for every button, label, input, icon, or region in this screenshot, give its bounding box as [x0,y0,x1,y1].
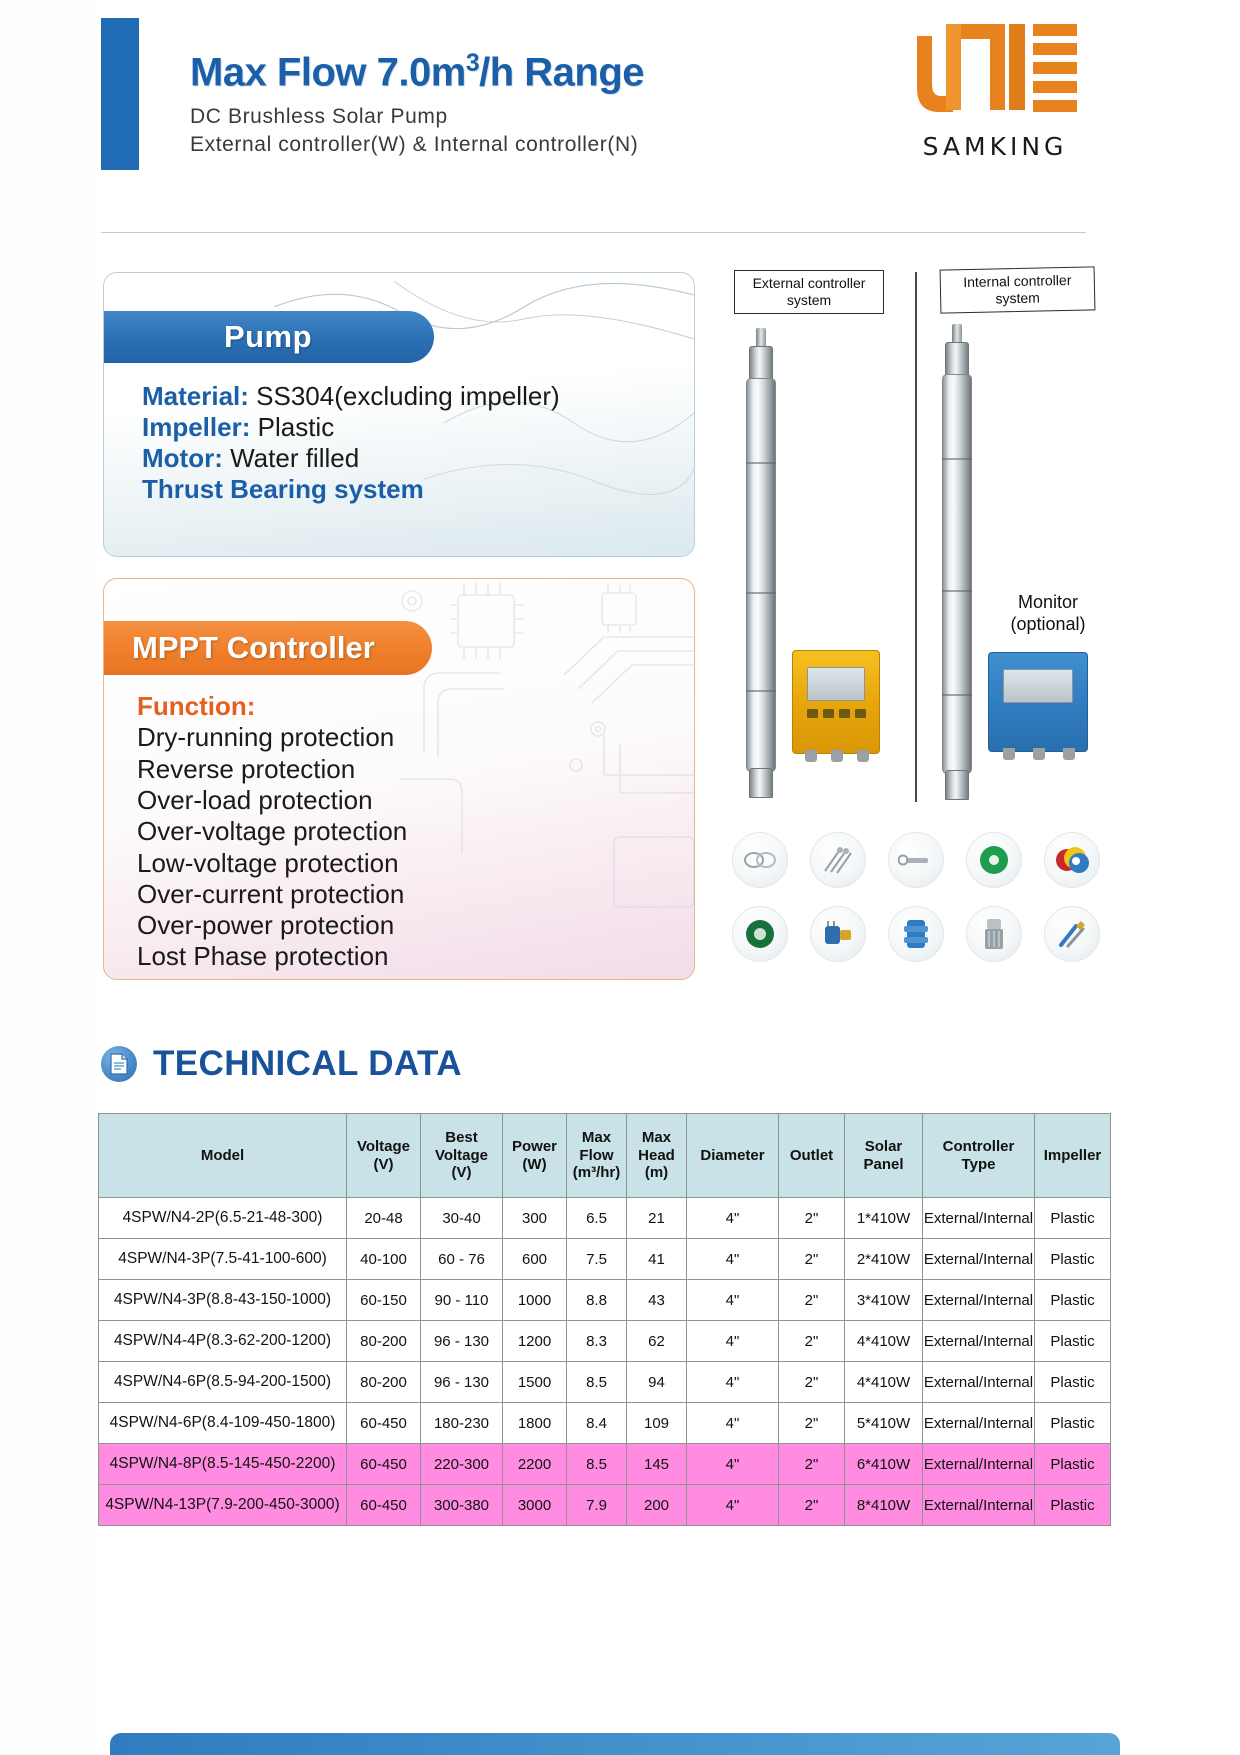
protection-item: Over-load protection [137,785,677,816]
table-cell: 90 - 110 [421,1280,503,1321]
cell-model: 4SPW/N4-4P(8.3-62-200-1200) [99,1321,347,1362]
accessories-row [732,906,1104,962]
green-tape-reel-icon [966,832,1022,888]
table-cell: 4" [687,1485,779,1526]
table-cell: 2" [779,1280,845,1321]
table-cell: Plastic [1035,1403,1111,1444]
cell-model: 4SPW/N4-6P(8.4-109-450-1800) [99,1403,347,1444]
technical-data-table-wrapper: Model Voltage (V) Best Voltage (V) Power… [98,1113,1090,1526]
page-header: Max Flow 7.0m3/h Range DC Brushless Sola… [0,0,1240,230]
spec-motor: Motor: Water filled [142,443,672,474]
column-header-power: Power (W) [503,1114,567,1198]
table-cell: 96 - 130 [421,1362,503,1403]
technical-data-heading: TECHNICAL DATA [101,1044,462,1084]
table-cell: 7.5 [567,1239,627,1280]
table-cell: External/Internal [923,1444,1035,1485]
function-label: Function: [137,691,677,722]
header-divider [101,232,1086,233]
protection-item: Over-voltage protection [137,816,677,847]
header-title-block: Max Flow 7.0m3/h Range DC Brushless Sola… [190,50,644,160]
cell-model: 4SPW/N4-3P(8.8-43-150-1000) [99,1280,347,1321]
table-cell: 8.4 [567,1403,627,1444]
column-header-controller-type: Controller Type [923,1114,1035,1198]
page-title-tail: /h Range [479,50,644,94]
table-cell: 60-450 [347,1403,421,1444]
table-cell: 8.8 [567,1280,627,1321]
spec-material-value: SS304(excluding impeller) [256,381,559,411]
table-cell: 300 [503,1198,567,1239]
table-cell: 6.5 [567,1198,627,1239]
table-cell: 3*410W [845,1280,923,1321]
cell-model: 4SPW/N4-6P(8.5-94-200-1500) [99,1362,347,1403]
monitor-display-screen [1003,669,1073,703]
accessories-grid [732,832,1104,980]
table-row: 4SPW/N4-4P(8.3-62-200-1200)80-20096 - 13… [99,1321,1111,1362]
table-row: 4SPW/N4-3P(7.5-41-100-600)40-10060 - 766… [99,1239,1111,1280]
table-cell: 96 - 130 [421,1321,503,1362]
product-photo-panel: External controller system Internal cont… [712,262,1102,982]
table-cell: Plastic [1035,1321,1111,1362]
column-header-diameter: Diameter [687,1114,779,1198]
table-cell: 4*410W [845,1362,923,1403]
adapter-plug-icon [810,906,866,962]
table-cell: 4" [687,1444,779,1485]
table-cell: 8.3 [567,1321,627,1362]
table-row: 4SPW/N4-13P(7.9-200-450-3000)60-450300-3… [99,1485,1111,1526]
wire-loops-icon [732,832,788,888]
table-cell: 30-40 [421,1198,503,1239]
table-cell: 220-300 [421,1444,503,1485]
table-cell: 2" [779,1403,845,1444]
pump-spec-list: Material: SS304(excluding impeller) Impe… [142,381,672,505]
table-cell: External/Internal [923,1198,1035,1239]
spec-impeller-value: Plastic [258,412,335,442]
table-cell: 7.9 [567,1485,627,1526]
table-cell: Plastic [1035,1444,1111,1485]
protection-item: Lost Phase protection [137,941,677,972]
header-subtitle-line2: External controller(W) & Internal contro… [190,131,644,159]
protection-item: Reverse protection [137,754,677,785]
cell-model: 4SPW/N4-8P(8.5-145-450-2200) [99,1444,347,1485]
table-cell: 1*410W [845,1198,923,1239]
bolts-screws-icon [810,832,866,888]
table-cell: 1800 [503,1403,567,1444]
page-title-superscript: 3 [466,50,479,77]
table-cell: 600 [503,1239,567,1280]
page-title: Max Flow 7.0m3/h Range [190,50,644,94]
table-cell: 21 [627,1198,687,1239]
table-cell: 1200 [503,1321,567,1362]
table-cell: 145 [627,1444,687,1485]
column-header-model: Model [99,1114,347,1198]
table-row: 4SPW/N4-3P(8.8-43-150-1000)60-15090 - 11… [99,1280,1111,1321]
table-cell: 4" [687,1239,779,1280]
table-cell: 60-450 [347,1444,421,1485]
table-cell: 43 [627,1280,687,1321]
table-row: 4SPW/N4-8P(8.5-145-450-2200)60-450220-30… [99,1444,1111,1485]
table-cell: External/Internal [923,1239,1035,1280]
pump-fitting-icon [966,906,1022,962]
table-cell: 180-230 [421,1403,503,1444]
column-header-max-head: Max Head (m) [627,1114,687,1198]
external-controller-photo [792,650,880,754]
table-cell: Plastic [1035,1362,1111,1403]
table-cell: 4" [687,1403,779,1444]
mppt-function-list: Function: Dry-running protection Reverse… [137,691,677,973]
brand-name: SAMKING [895,132,1095,161]
protection-item: Low-voltage protection [137,848,677,879]
brand-logo: SAMKING [895,22,1095,172]
table-cell: 40-100 [347,1239,421,1280]
mppt-controller-card: MPPT Controller Function: Dry-running pr… [103,578,695,980]
table-cell: 2" [779,1239,845,1280]
cell-model: 4SPW/N4-13P(7.9-200-450-3000) [99,1485,347,1526]
controller-display-screen [807,667,865,701]
cell-model: 4SPW/N4-3P(7.5-41-100-600) [99,1239,347,1280]
spec-material-key: Material: [142,381,249,411]
multicolor-tape-icon [1044,832,1100,888]
spec-impeller: Impeller: Plastic [142,412,672,443]
table-cell: 4*410W [845,1321,923,1362]
table-cell: 2200 [503,1444,567,1485]
external-controller-system-label: External controller system [734,270,884,314]
table-cell: 94 [627,1362,687,1403]
pump-info-card: Pump Material: SS304(excluding impeller)… [103,272,695,557]
monitor-optional-label: Monitor (optional) [988,592,1108,635]
table-cell: 80-200 [347,1362,421,1403]
table-cell: 4" [687,1198,779,1239]
table-cell: 4" [687,1280,779,1321]
table-cell: 2" [779,1321,845,1362]
protection-item: Over-current protection [137,879,677,910]
table-cell: 8.5 [567,1362,627,1403]
internal-controller-system-label: Internal controller system [940,266,1096,313]
table-cell: 2" [779,1485,845,1526]
mppt-pill-label: MPPT Controller [103,621,432,675]
header-subtitle: DC Brushless Solar Pump External control… [190,103,644,159]
table-cell: 60-150 [347,1280,421,1321]
monitor-photo [988,652,1088,752]
header-accent-bar [101,18,139,170]
page-title-main: Max Flow 7.0m [190,50,466,94]
column-header-voltage: Voltage (V) [347,1114,421,1198]
pump-pill-label: Pump [103,311,434,363]
table-cell: 60-450 [347,1485,421,1526]
page-left-margin [0,0,96,1755]
table-row: 4SPW/N4-6P(8.5-94-200-1500)80-20096 - 13… [99,1362,1111,1403]
table-cell: 20-48 [347,1198,421,1239]
table-cell: 6*410W [845,1444,923,1485]
table-cell: 4" [687,1362,779,1403]
column-header-best-voltage: Best Voltage (V) [421,1114,503,1198]
table-cell: 2*410W [845,1239,923,1280]
spec-material: Material: SS304(excluding impeller) [142,381,672,412]
table-cell: Plastic [1035,1280,1111,1321]
table-cell: 200 [627,1485,687,1526]
column-header-max-flow: Max Flow (m³/hr) [567,1114,627,1198]
column-header-outlet: Outlet [779,1114,845,1198]
document-icon [101,1046,137,1082]
table-cell: Plastic [1035,1239,1111,1280]
header-subtitle-line1: DC Brushless Solar Pump [190,103,644,131]
cell-model: 4SPW/N4-2P(6.5-21-48-300) [99,1198,347,1239]
table-cell: External/Internal [923,1403,1035,1444]
controller-buttons [807,709,866,718]
tools-kit-icon [1044,906,1100,962]
cable-lug-icon [888,832,944,888]
table-cell: 1000 [503,1280,567,1321]
table-cell: 4" [687,1321,779,1362]
table-cell: 80-200 [347,1321,421,1362]
table-cell: 8*410W [845,1485,923,1526]
table-cell: 109 [627,1403,687,1444]
table-cell: External/Internal [923,1485,1035,1526]
table-cell: Plastic [1035,1485,1111,1526]
table-cell: Plastic [1035,1198,1111,1239]
green-cable-coil-icon [732,906,788,962]
technical-data-table: Model Voltage (V) Best Voltage (V) Power… [98,1113,1111,1526]
table-cell: 5*410W [845,1403,923,1444]
technical-data-title: TECHNICAL DATA [153,1044,462,1084]
protection-item: Dry-running protection [137,722,677,753]
table-body: 4SPW/N4-2P(6.5-21-48-300)20-4830-403006.… [99,1198,1111,1526]
table-header-row: Model Voltage (V) Best Voltage (V) Power… [99,1114,1111,1198]
table-cell: 1500 [503,1362,567,1403]
table-cell: 41 [627,1239,687,1280]
column-header-impeller: Impeller [1035,1114,1111,1198]
accessories-row [732,832,1104,888]
samking-logo-icon [913,22,1081,131]
spec-impeller-key: Impeller: [142,412,250,442]
spec-motor-key: Motor: [142,443,223,473]
blue-coupling-icon [888,906,944,962]
table-cell: 2" [779,1198,845,1239]
table-cell: 300-380 [421,1485,503,1526]
protection-item: Over-power protection [137,910,677,941]
table-row: 4SPW/N4-2P(6.5-21-48-300)20-4830-403006.… [99,1198,1111,1239]
table-row: 4SPW/N4-6P(8.4-109-450-1800)60-450180-23… [99,1403,1111,1444]
table-cell: 62 [627,1321,687,1362]
panel-divider [915,272,917,802]
column-header-solar-panel: Solar Panel [845,1114,923,1198]
table-cell: 3000 [503,1485,567,1526]
page-footer-bar [110,1733,1120,1755]
table-cell: 8.5 [567,1444,627,1485]
table-cell: 2" [779,1362,845,1403]
table-cell: 60 - 76 [421,1239,503,1280]
table-cell: 2" [779,1444,845,1485]
table-cell: External/Internal [923,1321,1035,1362]
spec-motor-value: Water filled [230,443,359,473]
table-cell: External/Internal [923,1280,1035,1321]
spec-thrust-bearing: Thrust Bearing system [142,474,672,505]
table-cell: External/Internal [923,1362,1035,1403]
